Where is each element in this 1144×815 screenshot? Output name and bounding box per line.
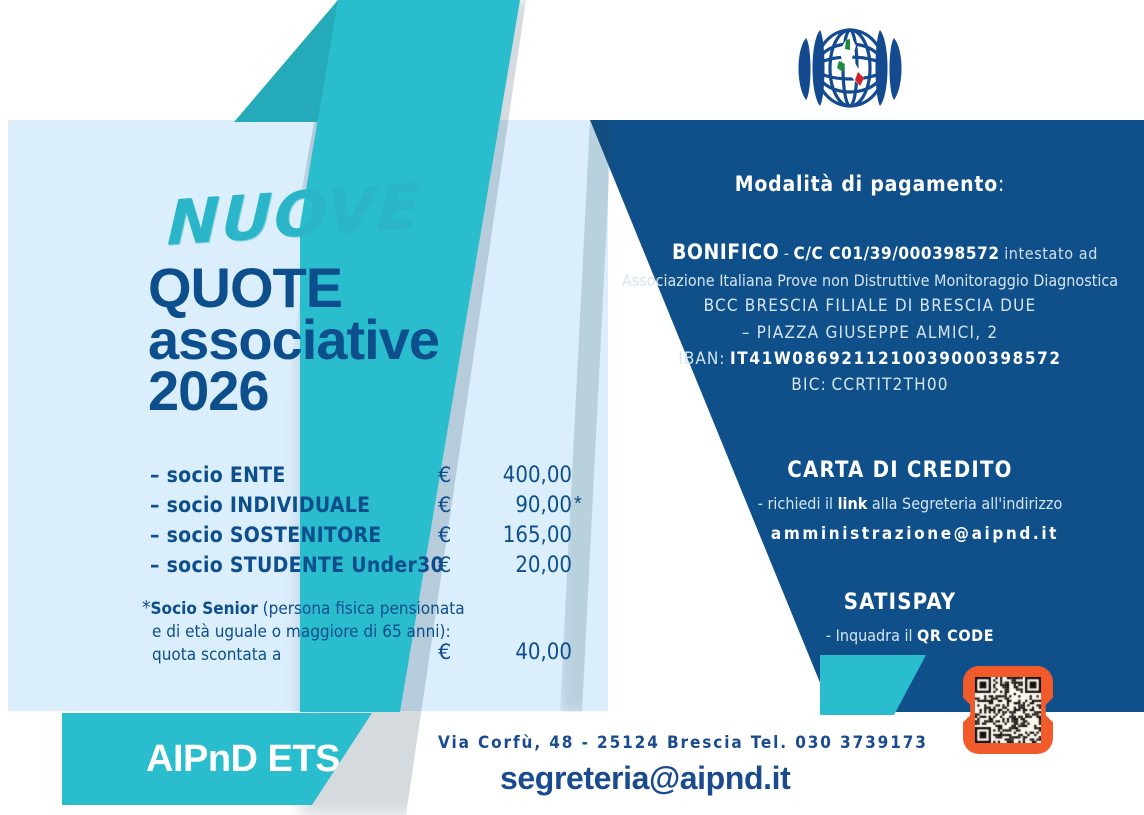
fee-label: – socio SOSTENITORE — [150, 523, 382, 547]
fee-label: – socio INDIVIDUALE — [150, 493, 370, 517]
footer-address: Via Corfù, 48 - 25124 Brescia Tel. 030 3… — [438, 733, 928, 753]
fee-amount: 20,00 — [480, 553, 572, 578]
bank-transfer-bank-address: – PIAZZA GIUSEPPE ALMICI, 2 — [620, 320, 1120, 346]
senior-note-2: e di età uguale o maggiore di 65 anni): — [152, 622, 451, 642]
credit-card-heading: CARTA DI CREDITO — [700, 458, 1100, 483]
payment-methods-heading-colon: : — [998, 172, 1005, 196]
row-dash: – — [150, 463, 160, 487]
poster-canvas: NUOVE QUOTE associative 2026 – socio ENT… — [0, 0, 1144, 815]
row-prefix: socio — [167, 493, 223, 517]
senior-title: Socio Senior — [151, 599, 258, 619]
link-keyword: link — [838, 494, 868, 513]
currency-symbol: € — [438, 523, 451, 547]
membership-fee-table: – socio ENTE € 400,00 – socio INDIVIDUAL… — [150, 463, 580, 583]
currency-symbol: € — [438, 463, 451, 487]
senior-note-3: quota scontata a — [152, 645, 281, 665]
row-prefix: socio — [167, 463, 223, 487]
bic-value: CCRTIT2TH00 — [832, 375, 949, 395]
aipnd-globe-logo — [790, 16, 910, 116]
bank-transfer-block: BONIFICO - C/C C01/39/000398572 intestat… — [620, 236, 1120, 399]
senior-currency-symbol: € — [438, 640, 451, 664]
qr-code-canvas — [975, 677, 1041, 743]
fee-amount: 90,00 — [480, 493, 572, 518]
table-row: – socio ENTE € 400,00 — [150, 463, 580, 493]
row-dash: – — [150, 523, 160, 547]
administration-email[interactable]: amministrazione@aipnd.it — [700, 524, 1130, 544]
right-navy-panel — [520, 120, 1144, 712]
row-dash: – — [150, 553, 160, 577]
satispay-qr-code[interactable] — [963, 666, 1053, 754]
credit-card-instruction-pre: - richiedi il — [758, 494, 838, 513]
bank-transfer-bank: BCC BRESCIA FILIALE DI BRESCIA DUE — [620, 293, 1120, 319]
row-prefix: socio — [167, 523, 223, 547]
table-row: – socio INDIVIDUALE € 90,00 * — [150, 493, 580, 523]
table-row: – socio STUDENTE Under30 € 20,00 — [150, 553, 580, 583]
qr-code-keyword: QR CODE — [917, 626, 994, 645]
brand-name: AIPnD ETS — [146, 738, 340, 781]
iban-label: IBAN: — [678, 349, 725, 369]
page-title-line-1: QUOTE — [148, 262, 439, 314]
satispay-heading: SATISPAY — [700, 590, 1100, 615]
footer-email[interactable]: segreteria@aipnd.it — [500, 760, 790, 797]
payment-methods-heading: Modalità di pagamento: — [630, 172, 1110, 196]
row-name: STUDENTE Under30 — [230, 553, 444, 577]
bank-transfer-bic: BIC: CCRTIT2TH00 — [620, 372, 1120, 398]
credit-card-instruction: - richiedi il link alla Segreteria all'i… — [700, 494, 1120, 513]
row-dash: – — [150, 493, 160, 517]
row-name: INDIVIDUALE — [230, 493, 370, 517]
iban-value: IT41W0869211210039000398572 — [730, 349, 1062, 369]
senior-footnote-marker: * — [142, 597, 151, 619]
row-prefix: socio — [167, 553, 223, 577]
senior-note-1: (persona fisica pensionata — [263, 599, 465, 619]
bank-transfer-line-1: BONIFICO - C/C C01/39/000398572 intestat… — [620, 236, 1120, 269]
currency-symbol: € — [438, 493, 451, 517]
bonifico-separator: - — [784, 244, 789, 263]
fee-label: – socio ENTE — [150, 463, 286, 487]
senior-amount: 40,00 — [480, 640, 572, 665]
qr-code-image — [975, 677, 1041, 743]
page-title-line-3: 2026 — [148, 365, 439, 417]
currency-symbol: € — [438, 553, 451, 577]
bonifico-intestato: intestato ad — [1004, 244, 1098, 263]
fee-footnote-marker: * — [574, 493, 582, 516]
satispay-instruction: - Inquadra il QR CODE — [700, 626, 1120, 645]
credit-card-instruction-post: alla Segreteria all'indirizzo — [867, 494, 1062, 513]
fee-amount: 400,00 — [480, 463, 572, 488]
fee-amount: 165,00 — [480, 523, 572, 548]
account-holder-name: Associazione Italiana Prove non Distrutt… — [622, 271, 1118, 290]
fee-label: – socio STUDENTE Under30 — [150, 553, 444, 577]
page-title-line-2: associative — [148, 314, 439, 366]
page-title: QUOTE associative 2026 — [148, 262, 439, 417]
row-name: SOSTENITORE — [230, 523, 382, 547]
satispay-instruction-pre: - Inquadra il — [826, 626, 917, 645]
bank-transfer-holder: Associazione Italiana Prove non Distrutt… — [620, 269, 1120, 294]
row-name: ENTE — [230, 463, 286, 487]
bonifico-account-number: C/C C01/39/000398572 — [794, 244, 1000, 264]
table-row: – socio SOSTENITORE € 165,00 — [150, 523, 580, 553]
senior-footnote-line-1: *Socio Senior (persona fisica pensionata — [142, 596, 542, 621]
bonifico-keyword: BONIFICO — [672, 240, 779, 264]
bank-name: BCC BRESCIA FILIALE DI BRESCIA DUE — [704, 296, 1037, 316]
payment-methods-heading-text: Modalità di pagamento — [735, 172, 998, 196]
bank-address: – PIAZZA GIUSEPPE ALMICI, 2 — [742, 323, 999, 343]
bic-label: BIC: — [791, 375, 827, 395]
bank-transfer-iban: IBAN: IT41W0869211210039000398572 — [620, 346, 1120, 372]
